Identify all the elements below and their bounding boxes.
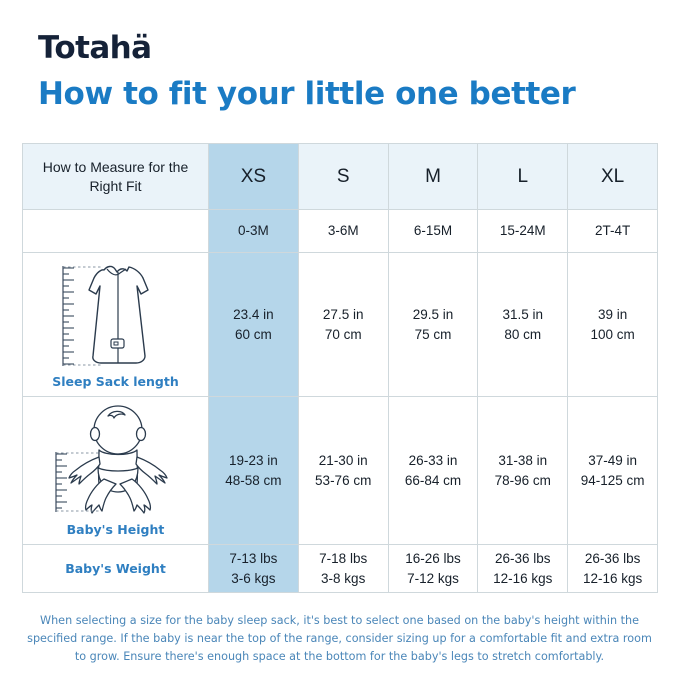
height-s: 21-30 in 53-76 cm xyxy=(298,397,388,545)
height-l: 31-38 in 78-96 cm xyxy=(478,397,568,545)
height-xl-in: 37-49 in xyxy=(568,451,657,471)
height-s-cm: 53-76 cm xyxy=(299,471,388,491)
age-xs: 0-3M xyxy=(209,210,299,253)
age-m: 6-15M xyxy=(388,210,478,253)
age-row-label xyxy=(23,210,209,253)
length-xl-in: 39 in xyxy=(568,305,657,325)
size-header-m: M xyxy=(388,144,478,210)
weight-xs: 7-13 lbs 3-6 kgs xyxy=(209,545,299,593)
brand-name: Totahä xyxy=(38,33,151,64)
height-xl-cm: 94-125 cm xyxy=(568,471,657,491)
height-l-cm: 78-96 cm xyxy=(478,471,567,491)
length-xl: 39 in 100 cm xyxy=(568,253,658,397)
size-header-l: L xyxy=(478,144,568,210)
height-s-in: 21-30 in xyxy=(299,451,388,471)
weight-xs-kgs: 3-6 kgs xyxy=(209,569,298,589)
table-row-baby-height: Baby's Height 19-23 in 48-58 cm 21-30 in… xyxy=(23,397,658,545)
age-s: 3-6M xyxy=(298,210,388,253)
length-xs-cm: 60 cm xyxy=(209,325,298,345)
page-title: How to fit your little one better xyxy=(38,76,575,113)
table-header-row: How to Measure for the Right Fit XS S M … xyxy=(23,144,658,210)
height-xs-in: 19-23 in xyxy=(209,451,298,471)
age-l: 15-24M xyxy=(478,210,568,253)
size-chart-table: How to Measure for the Right Fit XS S M … xyxy=(22,143,658,593)
sleep-sack-icon xyxy=(41,260,191,372)
weight-m-lbs: 16-26 lbs xyxy=(389,549,478,569)
sizing-note: When selecting a size for the baby sleep… xyxy=(24,612,655,666)
length-xs: 23.4 in 60 cm xyxy=(209,253,299,397)
brand-logo: Totahä xyxy=(38,28,151,68)
weight-l-lbs: 26-36 lbs xyxy=(478,549,567,569)
weight-xs-lbs: 7-13 lbs xyxy=(209,549,298,569)
length-s-in: 27.5 in xyxy=(299,305,388,325)
size-header-s: S xyxy=(298,144,388,210)
weight-l: 26-36 lbs 12-16 kgs xyxy=(478,545,568,593)
baby-weight-label-cell: Baby's Weight xyxy=(23,545,209,593)
length-l: 31.5 in 80 cm xyxy=(478,253,568,397)
length-l-cm: 80 cm xyxy=(478,325,567,345)
weight-s: 7-18 lbs 3-8 kgs xyxy=(298,545,388,593)
weight-m-kgs: 7-12 kgs xyxy=(389,569,478,589)
baby-weight-label: Baby's Weight xyxy=(65,561,166,576)
age-xl: 2T-4T xyxy=(568,210,658,253)
weight-xl-kgs: 12-16 kgs xyxy=(568,569,657,589)
length-m-in: 29.5 in xyxy=(389,305,478,325)
weight-s-kgs: 3-8 kgs xyxy=(299,569,388,589)
length-s: 27.5 in 70 cm xyxy=(298,253,388,397)
length-s-cm: 70 cm xyxy=(299,325,388,345)
size-header-xs: XS xyxy=(209,144,299,210)
weight-xl: 26-36 lbs 12-16 kgs xyxy=(568,545,658,593)
length-m: 29.5 in 75 cm xyxy=(388,253,478,397)
sleep-sack-illustration-cell: Sleep Sack length xyxy=(23,253,209,397)
length-l-in: 31.5 in xyxy=(478,305,567,325)
table-row-age: 0-3M 3-6M 6-15M 15-24M 2T-4T xyxy=(23,210,658,253)
baby-height-caption: Baby's Height xyxy=(67,522,165,537)
height-m-cm: 66-84 cm xyxy=(389,471,478,491)
height-m-in: 26-33 in xyxy=(389,451,478,471)
height-m: 26-33 in 66-84 cm xyxy=(388,397,478,545)
weight-m: 16-26 lbs 7-12 kgs xyxy=(388,545,478,593)
weight-s-lbs: 7-18 lbs xyxy=(299,549,388,569)
length-m-cm: 75 cm xyxy=(389,325,478,345)
height-xs: 19-23 in 48-58 cm xyxy=(209,397,299,545)
baby-icon xyxy=(36,404,196,520)
sleep-sack-caption: Sleep Sack length xyxy=(52,374,179,389)
size-header-xl: XL xyxy=(568,144,658,210)
baby-illustration-cell: Baby's Height xyxy=(23,397,209,545)
corner-header: How to Measure for the Right Fit xyxy=(23,144,209,210)
length-xs-in: 23.4 in xyxy=(209,305,298,325)
weight-l-kgs: 12-16 kgs xyxy=(478,569,567,589)
weight-xl-lbs: 26-36 lbs xyxy=(568,549,657,569)
height-xs-cm: 48-58 cm xyxy=(209,471,298,491)
length-xl-cm: 100 cm xyxy=(568,325,657,345)
table-row-baby-weight: Baby's Weight 7-13 lbs 3-6 kgs 7-18 lbs … xyxy=(23,545,658,593)
height-xl: 37-49 in 94-125 cm xyxy=(568,397,658,545)
height-l-in: 31-38 in xyxy=(478,451,567,471)
table-row-sleep-sack-length: Sleep Sack length 23.4 in 60 cm 27.5 in … xyxy=(23,253,658,397)
